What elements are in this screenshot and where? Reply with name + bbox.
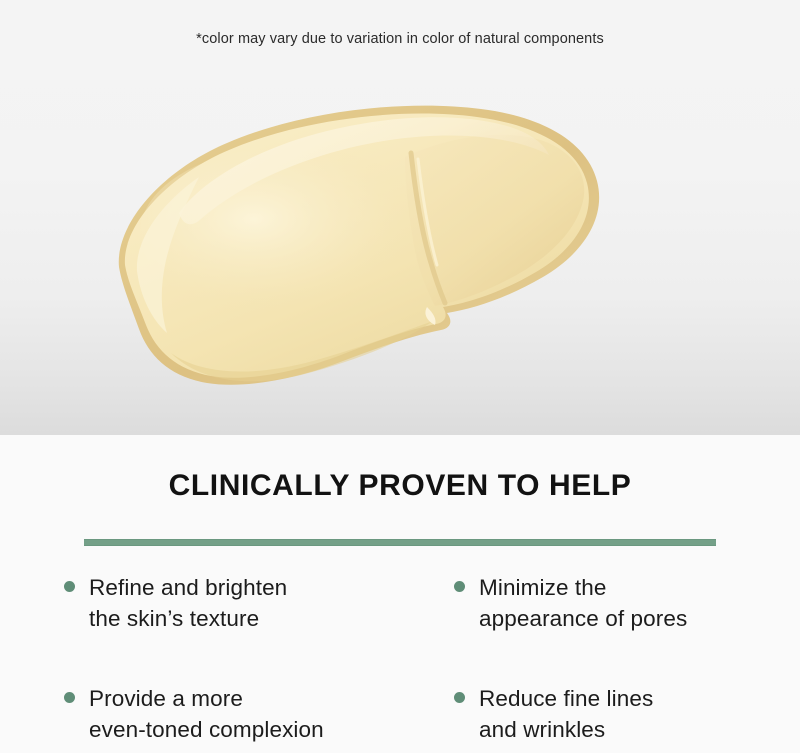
- benefits-panel: CLINICALLY PROVEN TO HELP Refine and bri…: [0, 435, 800, 753]
- bullet-dot-icon: [454, 692, 465, 703]
- color-variation-disclaimer: *color may vary due to variation in colo…: [0, 30, 800, 49]
- bullet-dot-icon: [64, 692, 75, 703]
- product-benefits-page: *color may vary due to variation in colo…: [0, 0, 800, 753]
- page-title: CLINICALLY PROVEN TO HELP: [0, 469, 800, 503]
- benefit-text: Minimize the appearance of pores: [479, 572, 687, 634]
- hero-section: *color may vary due to variation in colo…: [0, 0, 800, 435]
- bullet-dot-icon: [64, 581, 75, 592]
- benefit-text: Provide a more even-toned complexion: [89, 683, 324, 745]
- swatch-inner-light: [140, 147, 440, 319]
- benefit-item: Reduce fine lines and wrinkles: [454, 683, 794, 745]
- title-divider: [84, 539, 716, 546]
- cream-swatch-illustration: [75, 85, 635, 405]
- benefit-text: Refine and brighten the skin’s texture: [89, 572, 287, 634]
- benefits-grid: Refine and brighten the skin’s texture M…: [0, 572, 800, 745]
- bullet-dot-icon: [454, 581, 465, 592]
- swatch-right-lobe: [405, 135, 584, 306]
- benefit-item: Provide a more even-toned complexion: [64, 683, 454, 745]
- benefit-item: Minimize the appearance of pores: [454, 572, 794, 634]
- cream-product-swatch: [75, 85, 635, 405]
- benefit-item: Refine and brighten the skin’s texture: [64, 572, 454, 634]
- benefit-text: Reduce fine lines and wrinkles: [479, 683, 653, 745]
